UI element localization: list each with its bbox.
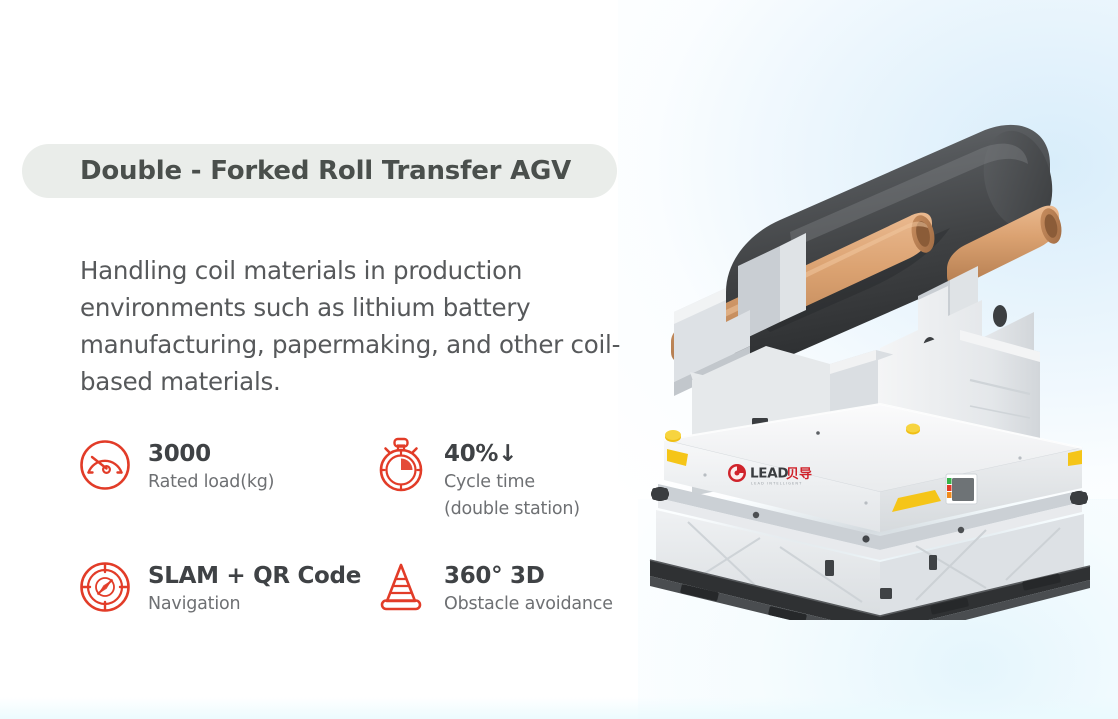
spec-value: 360° 3D [444,564,613,589]
stopwatch-icon [374,438,428,492]
spec-label: Obstacle avoidance [444,593,613,616]
spec-text-group: 40%↓ Cycle time (double station) [444,438,580,521]
svg-text:LEAD: LEAD [750,466,788,482]
spec-label: Rated load(kg) [148,471,274,494]
spec-label: Cycle time [444,471,580,494]
spec-text-group: 360° 3D Obstacle avoidance [444,560,613,616]
spec-item-rated-load: 3000 Rated load(kg) [78,438,374,560]
gauge-icon [78,438,132,492]
product-image-agv: LEAD 贝导 LEAD INTELLIGENT [630,60,1110,620]
spec-text-group: SLAM + QR Code Navigation [148,560,361,616]
spec-value: 3000 [148,442,274,467]
background-glow-bottom-band [0,697,1118,719]
spec-value: 40%↓ [444,442,580,467]
spec-item-obstacle-avoidance: 360° 3D Obstacle avoidance [374,560,670,616]
spec-value-number: 40% [444,441,498,467]
page-title: Double - Forked Roll Transfer AGV [80,156,571,186]
traffic-cone-icon [374,560,428,614]
spec-grid: 3000 Rated load(kg) [78,438,668,616]
spec-label-secondary: (double station) [444,498,580,521]
svg-text:LEAD INTELLIGENT: LEAD INTELLIGENT [751,482,802,486]
spec-text-group: 3000 Rated load(kg) [148,438,274,494]
product-description: Handling coil materials in production en… [80,252,640,400]
spec-label: Navigation [148,593,361,616]
page-title-badge: Double - Forked Roll Transfer AGV [22,144,617,198]
compass-icon [78,560,132,614]
down-arrow-icon: ↓ [498,441,517,467]
spec-value: SLAM + QR Code [148,564,361,589]
spec-item-navigation: SLAM + QR Code Navigation [78,560,374,616]
spec-item-cycle-time: 40%↓ Cycle time (double station) [374,438,670,560]
product-slide: Double - Forked Roll Transfer AGV Handli… [0,0,1118,719]
svg-text:贝导: 贝导 [786,467,812,482]
